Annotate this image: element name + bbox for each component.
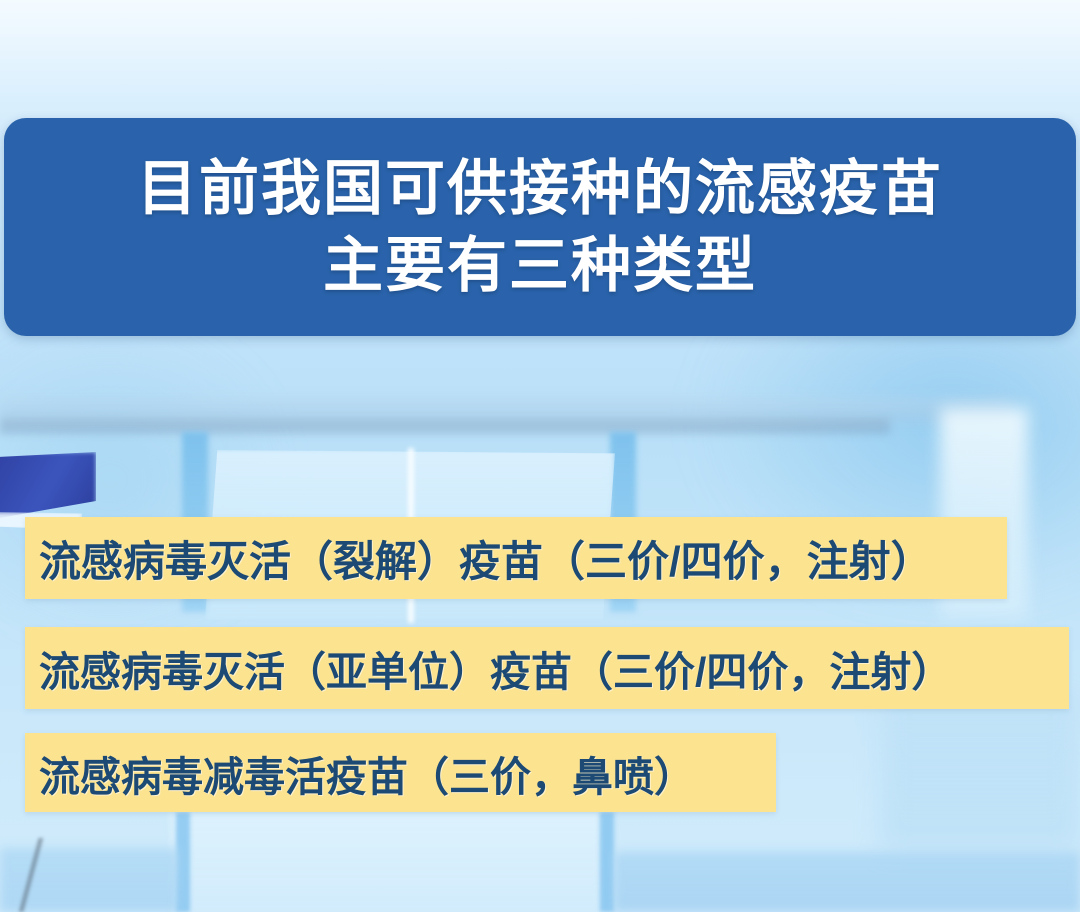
background-pillar-lower-right	[880, 690, 1080, 850]
vaccine-type-bar-2: 流感病毒灭活（亚单位）疫苗（三价/四价，注射）	[25, 627, 1069, 709]
background-divider-right	[600, 812, 614, 912]
vaccine-type-bar-3: 流感病毒减毒活疫苗（三价，鼻喷）	[25, 733, 776, 812]
background-horizon-right	[614, 852, 1080, 912]
vaccine-type-label-3: 流感病毒减毒活疫苗（三价，鼻喷）	[39, 743, 695, 803]
background-pole	[2, 838, 60, 912]
poster-root: 目前我国可供接种的流感疫苗 主要有三种类型 流感病毒灭活（裂解）疫苗（三价/四价…	[0, 0, 1080, 912]
title-line-1: 目前我国可供接种的流感疫苗	[137, 152, 943, 225]
background-lower-panel	[170, 812, 600, 912]
background-ceiling-beam	[0, 418, 890, 434]
title-banner: 目前我国可供接种的流感疫苗 主要有三种类型	[4, 118, 1076, 336]
vaccine-type-label-2: 流感病毒灭活（亚单位）疫苗（三价/四价，注射）	[39, 638, 952, 698]
vaccine-type-label-1: 流感病毒灭活（裂解）疫苗（三价/四价，注射）	[39, 528, 933, 589]
vaccine-type-bar-1: 流感病毒灭活（裂解）疫苗（三价/四价，注射）	[25, 517, 1007, 599]
title-line-2: 主要有三种类型	[323, 229, 757, 302]
